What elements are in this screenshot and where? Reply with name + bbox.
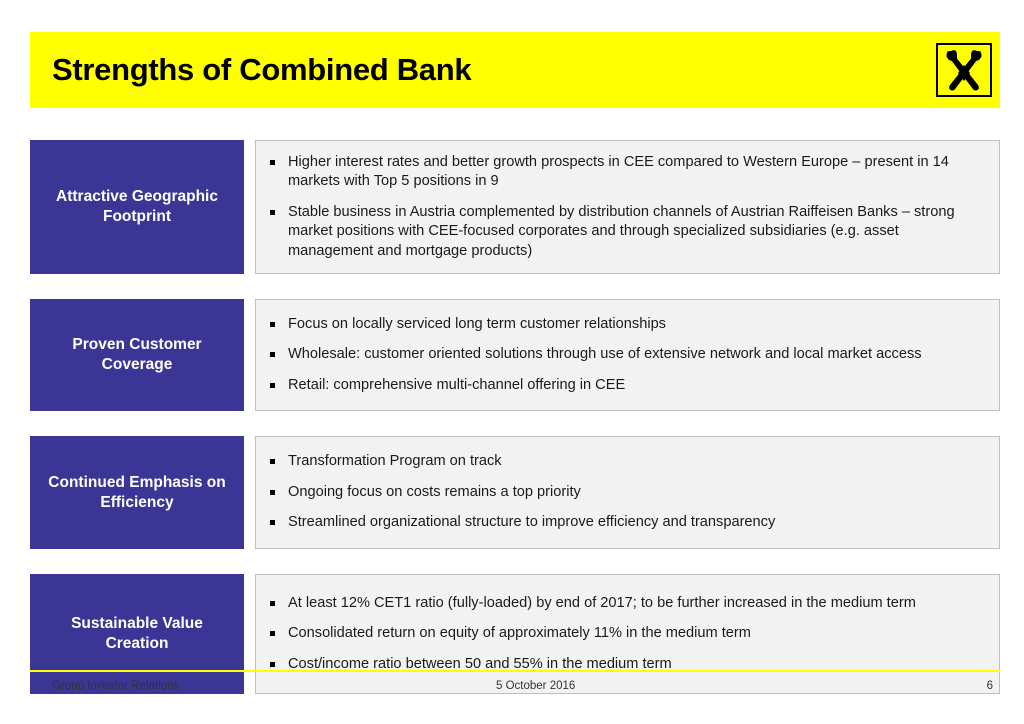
row-spacer	[244, 299, 255, 411]
bullet-item: Wholesale: customer oriented solutions t…	[266, 345, 985, 364]
bullet-item: At least 12% CET1 ratio (fully-loaded) b…	[266, 594, 985, 613]
bullet-item: Streamlined organizational structure to …	[266, 513, 985, 532]
strength-row: Proven Customer Coverage Focus on locall…	[30, 299, 1000, 411]
strength-content-sustainable-value-creation: At least 12% CET1 ratio (fully-loaded) b…	[255, 574, 1000, 694]
bullet-list: Higher interest rates and better growth …	[266, 153, 985, 261]
bullet-text: Ongoing focus on costs remains a top pri…	[288, 484, 581, 500]
bullet-text: Wholesale: customer oriented solutions t…	[288, 346, 922, 362]
square-bullet-icon	[270, 662, 275, 667]
strength-label-continued-emphasis-on-efficiency: Continued Emphasis on Efficiency	[30, 436, 244, 549]
strength-row: Sustainable Value Creation At least 12% …	[30, 574, 1000, 694]
square-bullet-icon	[270, 160, 275, 165]
bullet-item: Consolidated return on equity of approxi…	[266, 624, 985, 643]
bullet-item: Stable business in Austria complemented …	[266, 203, 985, 261]
bullet-item: Focus on locally serviced long term cust…	[266, 315, 985, 334]
footer-divider	[30, 670, 1000, 672]
square-bullet-icon	[270, 459, 275, 464]
bullet-text: Retail: comprehensive multi-channel offe…	[288, 377, 625, 393]
square-bullet-icon	[270, 631, 275, 636]
square-bullet-icon	[270, 322, 275, 327]
row-spacer	[244, 574, 255, 694]
page-title: Strengths of Combined Bank	[52, 52, 471, 88]
raiffeisen-gable-cross-icon	[936, 43, 992, 97]
footer: Group Investor Relations 5 October 2016 …	[30, 680, 1000, 700]
bullet-item: Transformation Program on track	[266, 452, 985, 471]
footer-page-number: 6	[987, 680, 993, 692]
bullet-text: At least 12% CET1 ratio (fully-loaded) b…	[288, 595, 916, 611]
strength-row: Attractive Geographic Footprint Higher i…	[30, 140, 1000, 274]
bullet-text: Transformation Program on track	[288, 453, 502, 469]
square-bullet-icon	[270, 383, 275, 388]
strength-content-continued-emphasis-on-efficiency: Transformation Program on track Ongoing …	[255, 436, 1000, 549]
square-bullet-icon	[270, 352, 275, 357]
square-bullet-icon	[270, 520, 275, 525]
strength-label-proven-customer-coverage: Proven Customer Coverage	[30, 299, 244, 411]
title-bar: Strengths of Combined Bank	[30, 32, 1000, 108]
bullet-text: Focus on locally serviced long term cust…	[288, 316, 666, 332]
bullet-text: Consolidated return on equity of approxi…	[288, 625, 751, 641]
strength-label-sustainable-value-creation: Sustainable Value Creation	[30, 574, 244, 694]
strengths-rows: Attractive Geographic Footprint Higher i…	[30, 140, 1000, 694]
bullet-text: Higher interest rates and better growth …	[288, 154, 949, 189]
footer-department: Group Investor Relations	[52, 680, 179, 692]
strength-content-attractive-geographic-footprint: Higher interest rates and better growth …	[255, 140, 1000, 274]
square-bullet-icon	[270, 490, 275, 495]
strength-content-proven-customer-coverage: Focus on locally serviced long term cust…	[255, 299, 1000, 411]
square-bullet-icon	[270, 210, 275, 215]
bullet-list: Transformation Program on track Ongoing …	[266, 452, 985, 532]
bullet-list: At least 12% CET1 ratio (fully-loaded) b…	[266, 594, 985, 674]
bullet-item: Higher interest rates and better growth …	[266, 153, 985, 192]
bullet-item: Retail: comprehensive multi-channel offe…	[266, 376, 985, 395]
bullet-item: Ongoing focus on costs remains a top pri…	[266, 483, 985, 502]
footer-date: 5 October 2016	[496, 680, 575, 692]
strength-label-attractive-geographic-footprint: Attractive Geographic Footprint	[30, 140, 244, 274]
bullet-text: Stable business in Austria complemented …	[288, 204, 955, 259]
row-spacer	[244, 140, 255, 274]
strength-row: Continued Emphasis on Efficiency Transfo…	[30, 436, 1000, 549]
bullet-text: Streamlined organizational structure to …	[288, 514, 775, 530]
row-spacer	[244, 436, 255, 549]
square-bullet-icon	[270, 601, 275, 606]
bullet-list: Focus on locally serviced long term cust…	[266, 315, 985, 395]
